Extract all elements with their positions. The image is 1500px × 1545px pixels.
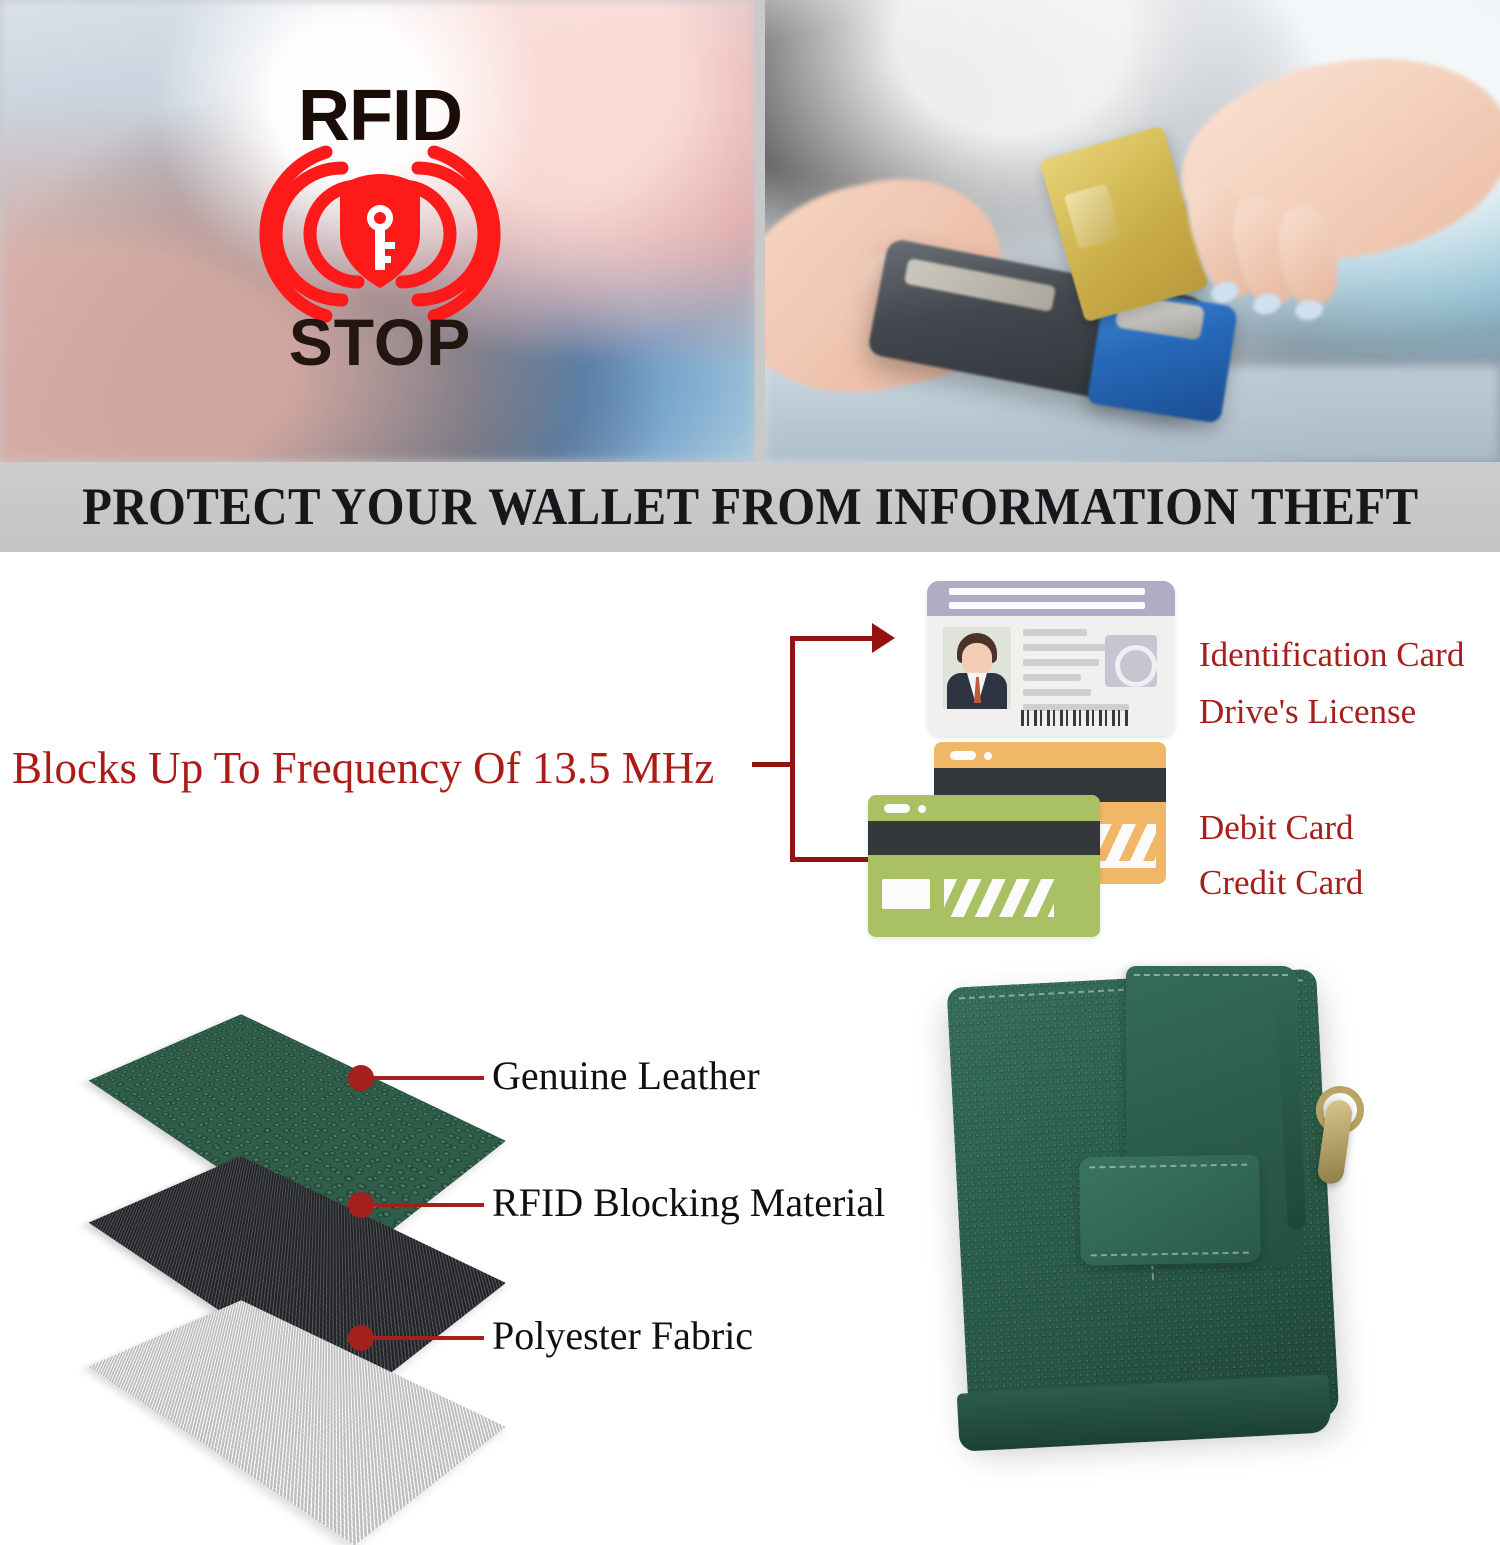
frequency-claim-text: Blocks Up To Frequency Of 13.5 MHz [12, 742, 714, 794]
leader-line [368, 1336, 484, 1340]
rfid-stop-logo: RFID [230, 82, 530, 370]
id-text-line [1023, 629, 1087, 636]
headline-text: PROTECT YOUR WALLET FROM INFORMATION THE… [82, 477, 1418, 537]
hologram-ring [1115, 645, 1157, 687]
card-chip-icon [1064, 183, 1122, 249]
payment-card-green [868, 795, 1100, 937]
card-top-mark [884, 804, 910, 813]
left-photo-office-scene: RFID [0, 0, 755, 462]
id-header-bar [949, 588, 1145, 595]
portrait-face [962, 643, 992, 677]
wallet-snap-tab [1079, 1154, 1261, 1265]
leader-line [368, 1203, 484, 1207]
card-blank-box [882, 879, 930, 909]
connector-spine [790, 636, 795, 862]
id-text-line [1023, 689, 1091, 696]
label-identification-card: Identification Card [1199, 635, 1464, 675]
id-card-header [927, 581, 1175, 616]
connector-arm-bottom [790, 857, 876, 862]
barcode-icon [1021, 710, 1129, 726]
id-text-line [1023, 674, 1081, 681]
label-drivers-license: Drive's License [1199, 692, 1416, 732]
id-text-line [1023, 659, 1099, 666]
card-top-dot [984, 752, 992, 760]
wallet-stitching [1091, 1252, 1249, 1257]
connector-arm-top [790, 636, 876, 641]
id-header-bar [949, 602, 1145, 609]
headline-banner: PROTECT YOUR WALLET FROM INFORMATION THE… [0, 462, 1500, 552]
card-top-mark [950, 751, 976, 760]
hero-photo-strip: RFID [0, 0, 1500, 462]
shield-key-icon [330, 170, 430, 292]
connector-stem [752, 762, 794, 767]
infographic-page: RFID [0, 0, 1500, 1498]
label-rfid-blocking-material: RFID Blocking Material [492, 1179, 885, 1226]
signature-strip [944, 879, 1054, 917]
hologram-icon [1105, 635, 1157, 687]
label-debit-card: Debit Card [1199, 808, 1354, 848]
wallet-stitching [1134, 974, 1288, 976]
identification-card-illustration [927, 581, 1175, 736]
card-top-dot [918, 805, 926, 813]
product-photo-wallet [930, 960, 1450, 1460]
right-photo-pos-terminal-scene [765, 0, 1500, 462]
photo-divider [755, 0, 765, 462]
label-credit-card: Credit Card [1199, 863, 1363, 903]
wallet-stitching [1089, 1164, 1247, 1169]
id-portrait-photo [943, 627, 1011, 709]
leader-line [368, 1076, 484, 1080]
arrow-head-icon [872, 623, 895, 653]
id-text-line [1023, 644, 1111, 651]
label-genuine-leather: Genuine Leather [492, 1052, 760, 1099]
rfid-logo-bottom-word: STOP [289, 311, 472, 374]
magnetic-stripe [868, 821, 1100, 855]
label-polyester-fabric: Polyester Fabric [492, 1312, 753, 1359]
